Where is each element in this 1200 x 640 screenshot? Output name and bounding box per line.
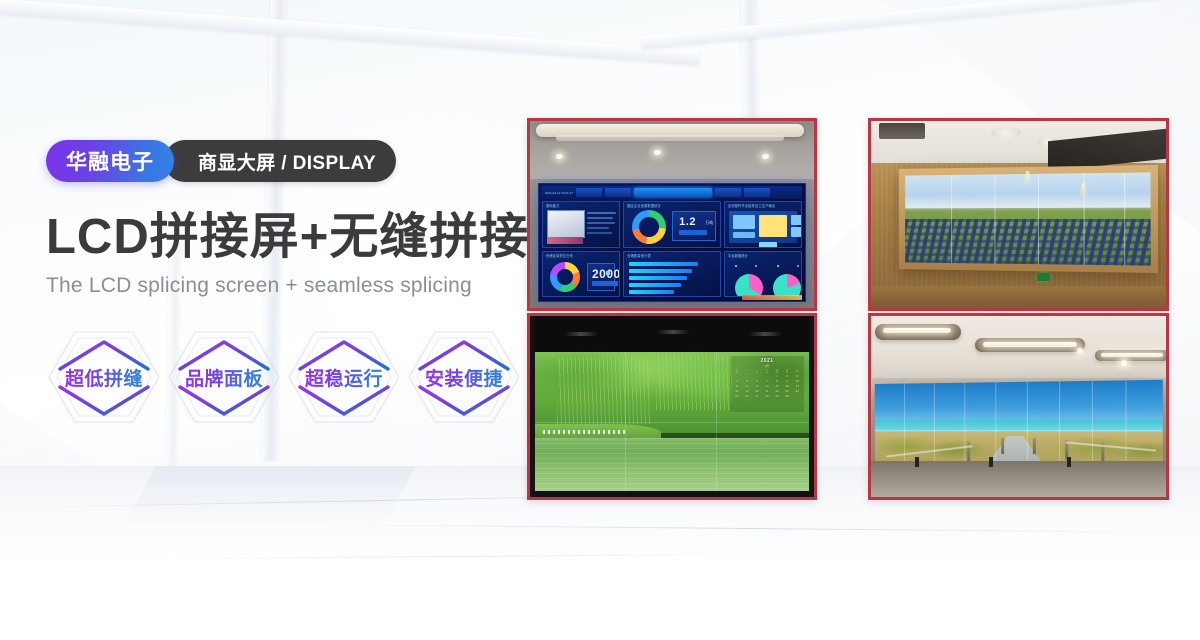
legend-swatch [797, 265, 800, 268]
feature-hexagon-row: 超低拼缝 品牌面板 [46, 325, 526, 429]
calendar-day: 24 [792, 389, 802, 393]
legend-swatch [777, 265, 780, 268]
room-dark-ceiling [530, 316, 814, 352]
calendar-day: 26 [742, 394, 752, 398]
card-text-line [587, 217, 613, 219]
ceiling-light-strip [1101, 353, 1163, 357]
kpi-unit: 万吨 [705, 220, 713, 226]
legend-swatch [678, 247, 681, 248]
calendar-weekday: 一 [742, 369, 752, 373]
legend-swatch [577, 297, 580, 298]
calendar-day: · [742, 374, 752, 378]
bar-row [629, 269, 692, 273]
photo-control-room-dashboard: 2021-04-13 10:21:27 基础能力 [527, 118, 817, 311]
calendar-day: 14 [762, 384, 772, 388]
screen-seam [1038, 174, 1039, 264]
kpi-subbar [592, 281, 618, 286]
category-label: 商显大屏 / DISPLAY [198, 148, 376, 175]
card-title: 平台数据统计 [728, 253, 748, 258]
screen-seam [535, 422, 809, 423]
calendar-day: 16 [782, 384, 792, 388]
calendar-day: 12 [742, 384, 752, 388]
screen-seam [994, 174, 995, 263]
calendar-weekday: 二 [752, 369, 762, 373]
lobby-ceiling [871, 316, 1166, 378]
calendar-day: 1 [772, 374, 782, 378]
pie-chart [735, 274, 763, 298]
calendar-day: 18 [732, 389, 742, 393]
photo-willow-lake-video-wall: 2021 4月 日 一 二 三 四 五 六 ·· ·· 12 [527, 313, 817, 500]
calendar-day: 28 [762, 394, 772, 398]
feature-hexagon-3: 超稳运行 [286, 325, 402, 429]
calendar-day: 17 [792, 384, 802, 388]
card-title: 仓储数量统计表 [627, 253, 651, 258]
calendar-grid: 日 一 二 三 四 五 六 ·· ·· 12 3 45 67 [732, 369, 802, 398]
calendar-day: 27 [752, 394, 762, 398]
floor-reflection [124, 466, 416, 526]
calendar-day: 20 [752, 389, 762, 393]
calendar-day: 25 [732, 394, 742, 398]
calendar-weekday: 五 [782, 369, 792, 373]
ceiling-vent [879, 123, 925, 139]
flow-node [791, 227, 802, 237]
screen-seam [875, 430, 1163, 431]
ceiling-reflection [564, 332, 598, 336]
wall-bezel-left [530, 316, 535, 497]
dashboard-card-capability: 基础能力 [542, 201, 620, 248]
card-title: 全流程环节全链条加工生产输出 [728, 203, 775, 208]
calendar-day: 5 [742, 379, 752, 383]
banner-copy-block: 商显大屏 / DISPLAY 华融电子 LCD拼接屏+无缝拼接 The LCD … [46, 140, 526, 429]
ceiling-cove-light-2 [556, 135, 784, 141]
legend-swatch [755, 265, 758, 268]
ceiling-downlight [1121, 360, 1127, 366]
card-text-line [587, 222, 615, 224]
card-text-line [587, 212, 616, 214]
photo-lobby-beach-video-wall [868, 313, 1169, 500]
dashboard-header: 2021-04-13 10:21:27 [542, 186, 802, 199]
dashboard-timestamp: 2021-04-13 10:21:27 [545, 191, 573, 195]
dashboard-card-storage: 仓储区域货位分布 2000 [542, 251, 620, 298]
calendar-month: 4月 [732, 364, 802, 368]
screen-sky [875, 380, 1163, 425]
card-title: 园区企业资源数据统计 [627, 203, 661, 208]
calendar-widget: 2021 4月 日 一 二 三 四 五 六 ·· ·· 12 [730, 356, 804, 412]
category-pill: 商显大屏 / DISPLAY [164, 140, 396, 182]
dashboard-card-bar-list: 仓储数量统计表 [623, 251, 721, 298]
calendar-day: 11 [732, 384, 742, 388]
exit-sign [1037, 273, 1050, 281]
calendar-day: 6 [752, 379, 762, 383]
card-title: 基础能力 [546, 203, 560, 208]
donut-chart [550, 262, 580, 292]
ceiling-reflection [656, 330, 690, 334]
calendar-day: 22 [772, 389, 782, 393]
kpi-subbar [679, 230, 707, 235]
screen-solar-panels [905, 219, 1150, 266]
ceiling-light-strip [883, 328, 951, 333]
calendar-day: 21 [762, 389, 772, 393]
wall-baseboard [871, 286, 1166, 308]
brand-name: 华融电子 [66, 146, 154, 176]
calendar-day: 23 [782, 389, 792, 393]
dashboard-card-grid: 基础能力 园区企业资源数据统计 [542, 201, 802, 297]
dashboard-tab [744, 188, 770, 197]
calendar-day: 4 [732, 379, 742, 383]
card-thumbnail [547, 210, 585, 238]
calendar-weekday: 四 [772, 369, 782, 373]
legend-swatch [630, 247, 633, 248]
bar-row [629, 276, 686, 280]
calendar-day: · [752, 374, 762, 378]
brand-badge: 商显大屏 / DISPLAY 华融电子 [46, 140, 526, 182]
screen-water-ripples [535, 438, 809, 491]
calendar-day: 9 [782, 379, 792, 383]
photo-wood-wall-solar-video-wall [868, 118, 1169, 311]
feature-label: 安装便捷 [425, 364, 503, 391]
screen-willow-branches [656, 355, 733, 411]
boardwalk-post [1001, 438, 1004, 454]
screen-seam [951, 175, 952, 263]
dashboard-tab-active [634, 188, 712, 197]
screen-railing [543, 430, 625, 434]
video-wall-screen: 2021-04-13 10:21:27 基础能力 [538, 183, 806, 302]
card-title: 仓储区域货位分布 [546, 253, 573, 258]
flow-node [791, 215, 802, 225]
feature-label: 超稳运行 [305, 364, 383, 391]
dashboard-card-flow: 全流程环节全链条加工生产输出 [724, 201, 802, 248]
legend-swatch [605, 297, 608, 298]
screen-willow-branches [557, 358, 650, 425]
ceiling-downlight [1077, 348, 1083, 354]
flow-node [733, 232, 755, 238]
dashboard-ticker [742, 295, 802, 300]
donut-chart [632, 210, 666, 244]
feature-hexagon-2: 品牌面板 [166, 325, 282, 429]
downlight [654, 150, 661, 155]
ceiling-light-strip [983, 342, 1077, 347]
calendar-day: · [762, 374, 772, 378]
flow-node [733, 215, 755, 229]
calendar-day: · [732, 374, 742, 378]
card-text-line [587, 232, 612, 234]
background-beam-1 [0, 0, 700, 65]
calendar-weekday: 三 [762, 369, 772, 373]
wall-bezel-right [809, 316, 814, 497]
bar-row [629, 262, 698, 266]
kpi-box: 2000 [587, 263, 615, 291]
bar-row [629, 297, 668, 298]
dashboard-card-resource-stats: 园区企业资源数据统计 1.2 万吨 [623, 201, 721, 248]
card-thumbnail-strip [547, 237, 583, 244]
calendar-day: 7 [762, 379, 772, 383]
flow-node [759, 242, 777, 248]
calendar-day: 29 [772, 394, 782, 398]
feature-hexagon-4: 安装便捷 [406, 325, 522, 429]
calendar-day: 30 [782, 394, 792, 398]
feature-hexagon-1: 超低拼缝 [46, 325, 162, 429]
calendar-day: 2 [782, 374, 792, 378]
page-subtitle: The LCD splicing screen + seamless splic… [46, 274, 526, 298]
ceiling-reflection [748, 332, 782, 336]
video-wall-screen: 2021 4月 日 一 二 三 四 五 六 ·· ·· 12 [535, 352, 809, 491]
calendar-day: 15 [772, 384, 782, 388]
kpi-unit-mark [606, 271, 610, 275]
wall-stand [1067, 457, 1071, 467]
dashboard-tab [605, 188, 631, 197]
dashboard-tab [576, 188, 602, 197]
feature-label: 品牌面板 [185, 364, 263, 391]
wall-stand [989, 457, 993, 467]
calendar-day: 19 [742, 389, 752, 393]
ceiling-speaker [991, 127, 1021, 139]
calendar-weekday: 日 [732, 369, 742, 373]
dashboard-tab [715, 188, 741, 197]
bar-row [629, 290, 674, 294]
product-banner: 商显大屏 / DISPLAY 华融电子 LCD拼接屏+无缝拼接 The LCD … [0, 0, 1200, 640]
wall-stand [915, 457, 919, 467]
dashboard-card-pie: 平台数据统计 [724, 251, 802, 298]
product-photo-grid: 2021-04-13 10:21:27 基础能力 [527, 118, 1163, 494]
brand-pill: 华融电子 [46, 140, 174, 182]
calendar-weekday: 六 [792, 369, 802, 373]
feature-label: 超低拼缝 [65, 364, 143, 391]
legend-text [635, 247, 673, 248]
legend-swatch [735, 265, 738, 268]
downlight [556, 154, 563, 159]
bar-row [629, 283, 681, 287]
kpi-box: 1.2 万吨 [672, 211, 716, 241]
flow-node [759, 215, 787, 237]
pie-chart [773, 274, 801, 298]
screen-seam [1124, 173, 1125, 266]
room-ceiling [530, 121, 814, 179]
calendar-day: 8 [772, 379, 782, 383]
downlight [762, 154, 769, 159]
calendar-day: 3 [792, 374, 802, 378]
legend-text [683, 247, 717, 248]
calendar-day: · [792, 394, 802, 398]
boardwalk-post [1033, 438, 1036, 454]
page-title: LCD拼接屏+无缝拼接 [46, 212, 526, 263]
legend-swatch [548, 297, 551, 298]
calendar-day: 10 [792, 379, 802, 383]
card-text-line [587, 227, 609, 229]
calendar-day: 13 [752, 384, 762, 388]
kpi-value: 1.2 [679, 216, 696, 228]
